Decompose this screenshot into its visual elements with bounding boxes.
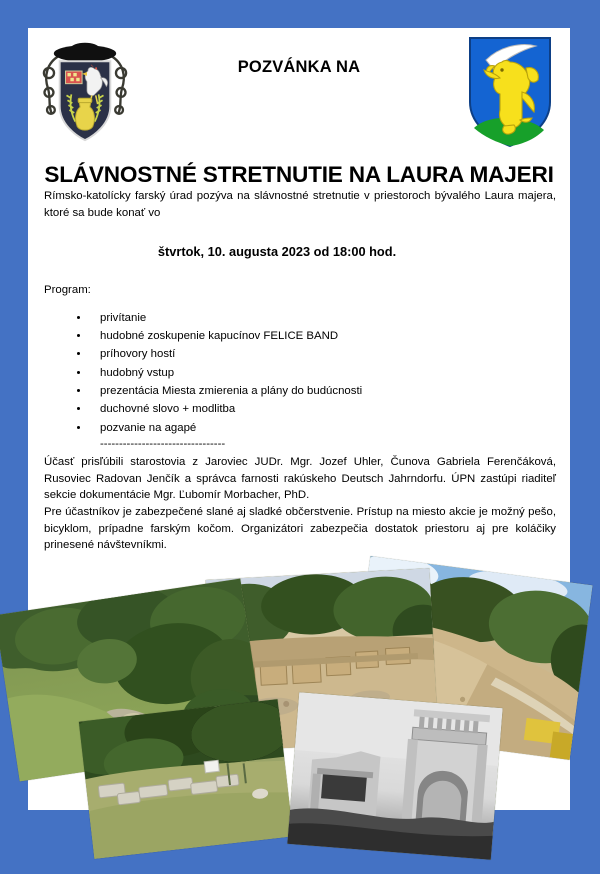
poster-page: POZVÁNKA NA SLÁVN (28, 28, 570, 810)
list-item: hudobný vstup (90, 365, 556, 382)
list-item: príhovory hostí (90, 346, 556, 363)
photo-historic (287, 692, 502, 860)
guests-paragraph: Účasť prisľúbili starostovia z Jaroviec … (44, 454, 556, 504)
list-item: hudobné zoskupenie kapucínov FELICE BAND (90, 328, 556, 345)
program-list: privítanie hudobné zoskupenie kapucínov … (44, 310, 556, 437)
poster-header: POZVÁNKA NA (28, 28, 570, 150)
list-item: privítanie (90, 310, 556, 327)
program-label: Program: (44, 282, 556, 299)
photo-ruins (79, 699, 293, 859)
list-item: duchovné slovo + modlitba (90, 401, 556, 418)
page-title: SLÁVNOSTNÉ STRETNUTIE NA LAURA MAJERI (38, 162, 560, 188)
info-paragraph: Pre účastníkov je zabezpečené slané aj s… (44, 504, 556, 554)
photo-collage (28, 584, 570, 874)
list-item: pozvanie na agapé (90, 420, 556, 437)
intro-paragraph: Rímsko-katolícky farský úrad pozýva na s… (44, 188, 556, 221)
event-date-line: štvrtok, 10. augusta 2023 od 18:00 hod. (44, 243, 556, 262)
dashed-separator: --------------------------------- (100, 438, 556, 451)
rusovce-coat-of-arms-icon (464, 32, 556, 150)
jarovce-coat-of-arms-icon (36, 34, 134, 146)
list-item: prezentácia Miesta zmierenia a plány do … (90, 383, 556, 400)
poster-body: Rímsko-katolícky farský úrad pozýva na s… (28, 188, 570, 554)
